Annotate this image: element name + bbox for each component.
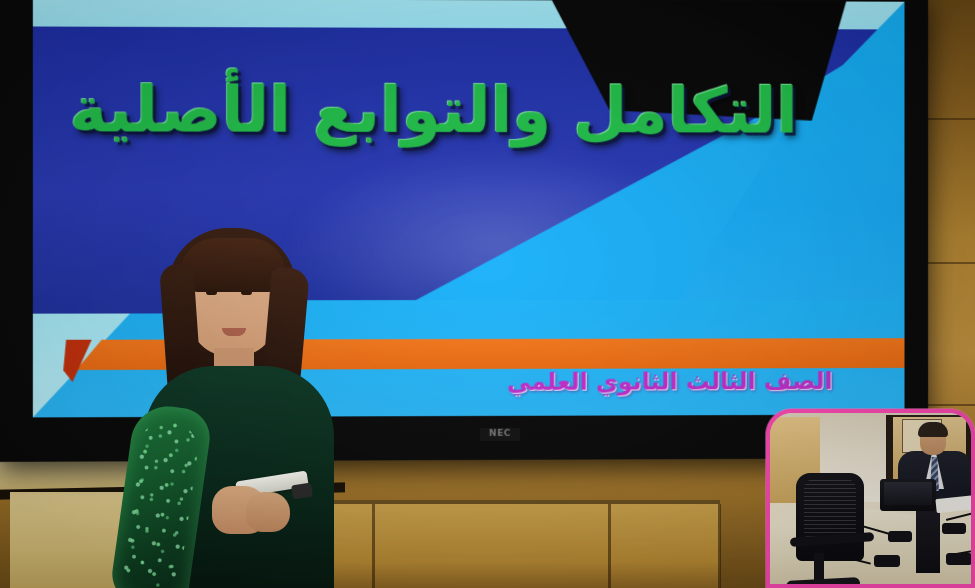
presenter-hand-right [246, 492, 290, 532]
pip-video [770, 413, 971, 584]
presenter-eye-left [206, 290, 217, 295]
pip-microphone [942, 523, 966, 534]
pip-person-hair [918, 422, 948, 437]
presenter-brow-left [203, 281, 219, 285]
slide-subtitle: الصف الثالث الثانوي العلمي [466, 367, 873, 396]
pip-microphone [888, 531, 912, 542]
pip-chair-mesh [804, 479, 856, 541]
counter-divider [718, 504, 721, 588]
counter-divider [372, 504, 375, 588]
slide-title: التكامل والتوابع الأصلية [33, 77, 834, 145]
presenter-eye-right [241, 290, 252, 295]
presenter [96, 228, 366, 588]
counter-divider [608, 504, 611, 588]
pip-secondary-camera[interactable] [766, 409, 975, 588]
pip-mic-arm [946, 511, 971, 521]
pip-microphone [946, 553, 971, 565]
pip-microphone [874, 555, 900, 567]
presenter-brow-right [238, 281, 254, 285]
display-brand-logo: NEC [480, 428, 520, 441]
video-frame: NEC التكامل والتوابع الأصلية الصف الثالث… [0, 0, 975, 588]
pip-papers [935, 495, 971, 513]
pip-laptop-screen [884, 482, 932, 505]
